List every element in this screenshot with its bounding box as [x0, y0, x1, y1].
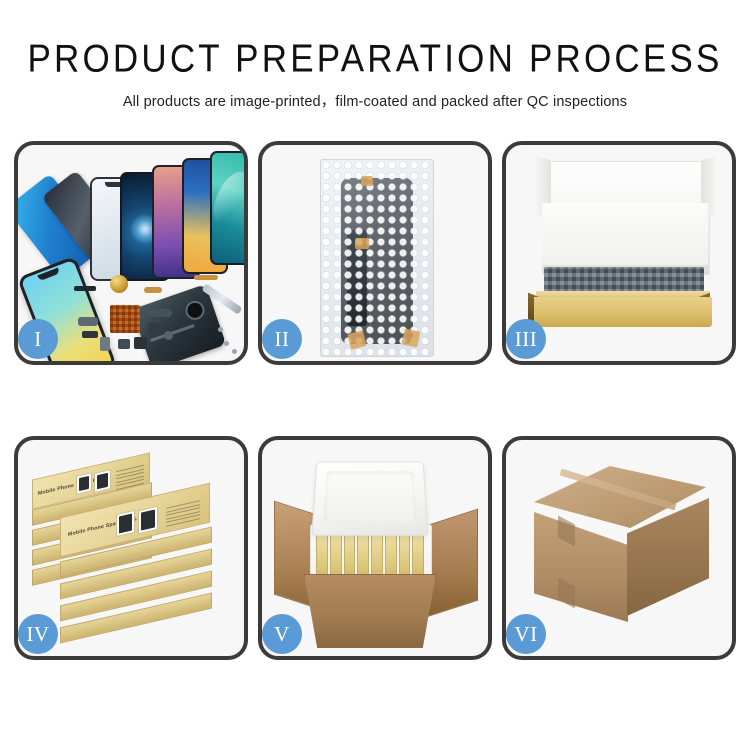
step-badge-2: II	[262, 319, 302, 359]
process-step-3: III	[502, 141, 736, 365]
box-stack: Mobile Phone Spare Parts	[32, 460, 238, 646]
header: PRODUCT PREPARATION PROCESS All products…	[0, 0, 750, 111]
button-part	[118, 339, 130, 349]
round-sensor-part	[164, 331, 173, 340]
phone-screen-art	[97, 473, 108, 490]
step-badge-4: IV	[18, 614, 58, 654]
notch	[37, 268, 60, 281]
vibration-motor-part	[110, 275, 128, 293]
speaker-part	[74, 286, 96, 291]
bubble-wrap-bag	[320, 159, 434, 357]
gold-flex-part	[144, 287, 162, 293]
carton-face-left	[534, 512, 628, 622]
tape-piece	[355, 238, 369, 249]
camera-lens	[183, 298, 207, 322]
foam-box-lid	[311, 462, 428, 536]
box-front-face	[534, 297, 712, 327]
process-step-5: V	[258, 436, 492, 660]
chip-part	[148, 323, 162, 333]
process-step-4: Mobile Phone Spare Parts	[14, 436, 248, 660]
tape-piece	[402, 329, 421, 348]
phone-screen-art	[141, 509, 155, 530]
flex-cable-part	[146, 309, 172, 317]
stacked-box-top-rear: Mobile Phone Spare Parts	[32, 466, 150, 496]
sim-tray-part	[100, 337, 110, 351]
connector-chip-grid	[110, 305, 140, 333]
swirl-highlight	[208, 167, 248, 235]
phone-screen-art	[79, 476, 89, 491]
bracket-part	[78, 317, 98, 326]
box-label-phone-image	[138, 506, 158, 535]
process-step-6: VI	[502, 436, 736, 660]
phone-screen-art	[119, 513, 132, 533]
foam-inner-wall	[542, 203, 708, 265]
page-subtitle: All products are image-printed，film-coat…	[0, 90, 750, 111]
process-step-grid: I II	[14, 141, 736, 660]
process-step-2: II	[258, 141, 492, 365]
step-badge-5: V	[262, 614, 302, 654]
tape-piece	[361, 176, 373, 186]
box-label-phone-image	[116, 510, 135, 537]
screw-icon	[224, 341, 229, 346]
stacked-box-top-front: Mobile Phone Spare Parts	[60, 500, 210, 540]
process-step-1: I	[14, 141, 248, 365]
step-badge-3: III	[506, 319, 546, 359]
screw-icon	[218, 327, 223, 332]
step-badge-1: I	[18, 319, 58, 359]
bubble-texture	[321, 160, 433, 356]
box-label-phone-image	[94, 469, 111, 493]
camera-module-part	[134, 337, 147, 349]
box-label-phone-image	[76, 472, 92, 495]
carton-body	[304, 574, 436, 648]
screw-icon	[232, 349, 237, 354]
gold-contact-strip	[194, 275, 218, 280]
step-badge-6: VI	[506, 614, 546, 654]
product-preparation-infographic: PRODUCT PREPARATION PROCESS All products…	[0, 0, 750, 750]
phone-teal-swirl	[210, 151, 248, 265]
page-title: PRODUCT PREPARATION PROCESS	[0, 38, 750, 81]
small-module-part	[82, 331, 98, 338]
